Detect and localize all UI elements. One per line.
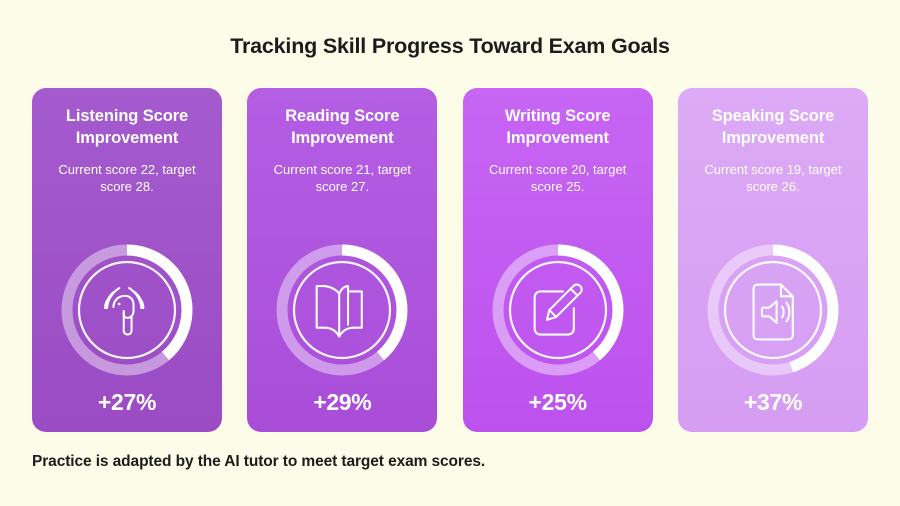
pencil-note-icon (534, 285, 581, 335)
improvement-percent: +37% (678, 389, 868, 416)
progress-ring (53, 236, 201, 384)
infographic-root: Tracking Skill Progress Toward Exam Goal… (0, 0, 900, 506)
skill-card-1[interactable]: Listening Score ImprovementCurrent score… (32, 88, 222, 432)
skill-card-subtitle: Current score 22, target score 28. (42, 161, 212, 196)
skill-card-3[interactable]: Writing Score ImprovementCurrent score 2… (463, 88, 653, 432)
skill-card-title: Listening Score Improvement (61, 106, 193, 150)
audio-document-icon (754, 285, 793, 340)
skill-card-title: Speaking Score Improvement (707, 106, 839, 150)
progress-ring (699, 236, 847, 384)
improvement-percent: +25% (463, 389, 653, 416)
skill-card-4[interactable]: Speaking Score ImprovementCurrent score … (678, 88, 868, 432)
improvement-percent: +29% (247, 389, 437, 416)
footer-note: Practice is adapted by the AI tutor to m… (32, 453, 485, 471)
skill-card-subtitle: Current score 21, target score 27. (257, 161, 427, 196)
page-title: Tracking Skill Progress Toward Exam Goal… (0, 34, 900, 59)
skill-card-title: Writing Score Improvement (474, 106, 642, 150)
earbud-icon (105, 288, 143, 335)
skill-card-subtitle: Current score 20, target score 25. (473, 161, 643, 196)
skill-card-2[interactable]: Reading Score ImprovementCurrent score 2… (247, 88, 437, 432)
progress-ring (484, 236, 632, 384)
improvement-percent: +27% (32, 389, 222, 416)
skill-card-title: Reading Score Improvement (258, 106, 426, 150)
skill-card-subtitle: Current score 19, target score 26. (688, 161, 858, 196)
progress-ring (268, 236, 416, 384)
skill-cards-row: Listening Score ImprovementCurrent score… (32, 88, 868, 432)
open-book-icon (317, 286, 362, 336)
